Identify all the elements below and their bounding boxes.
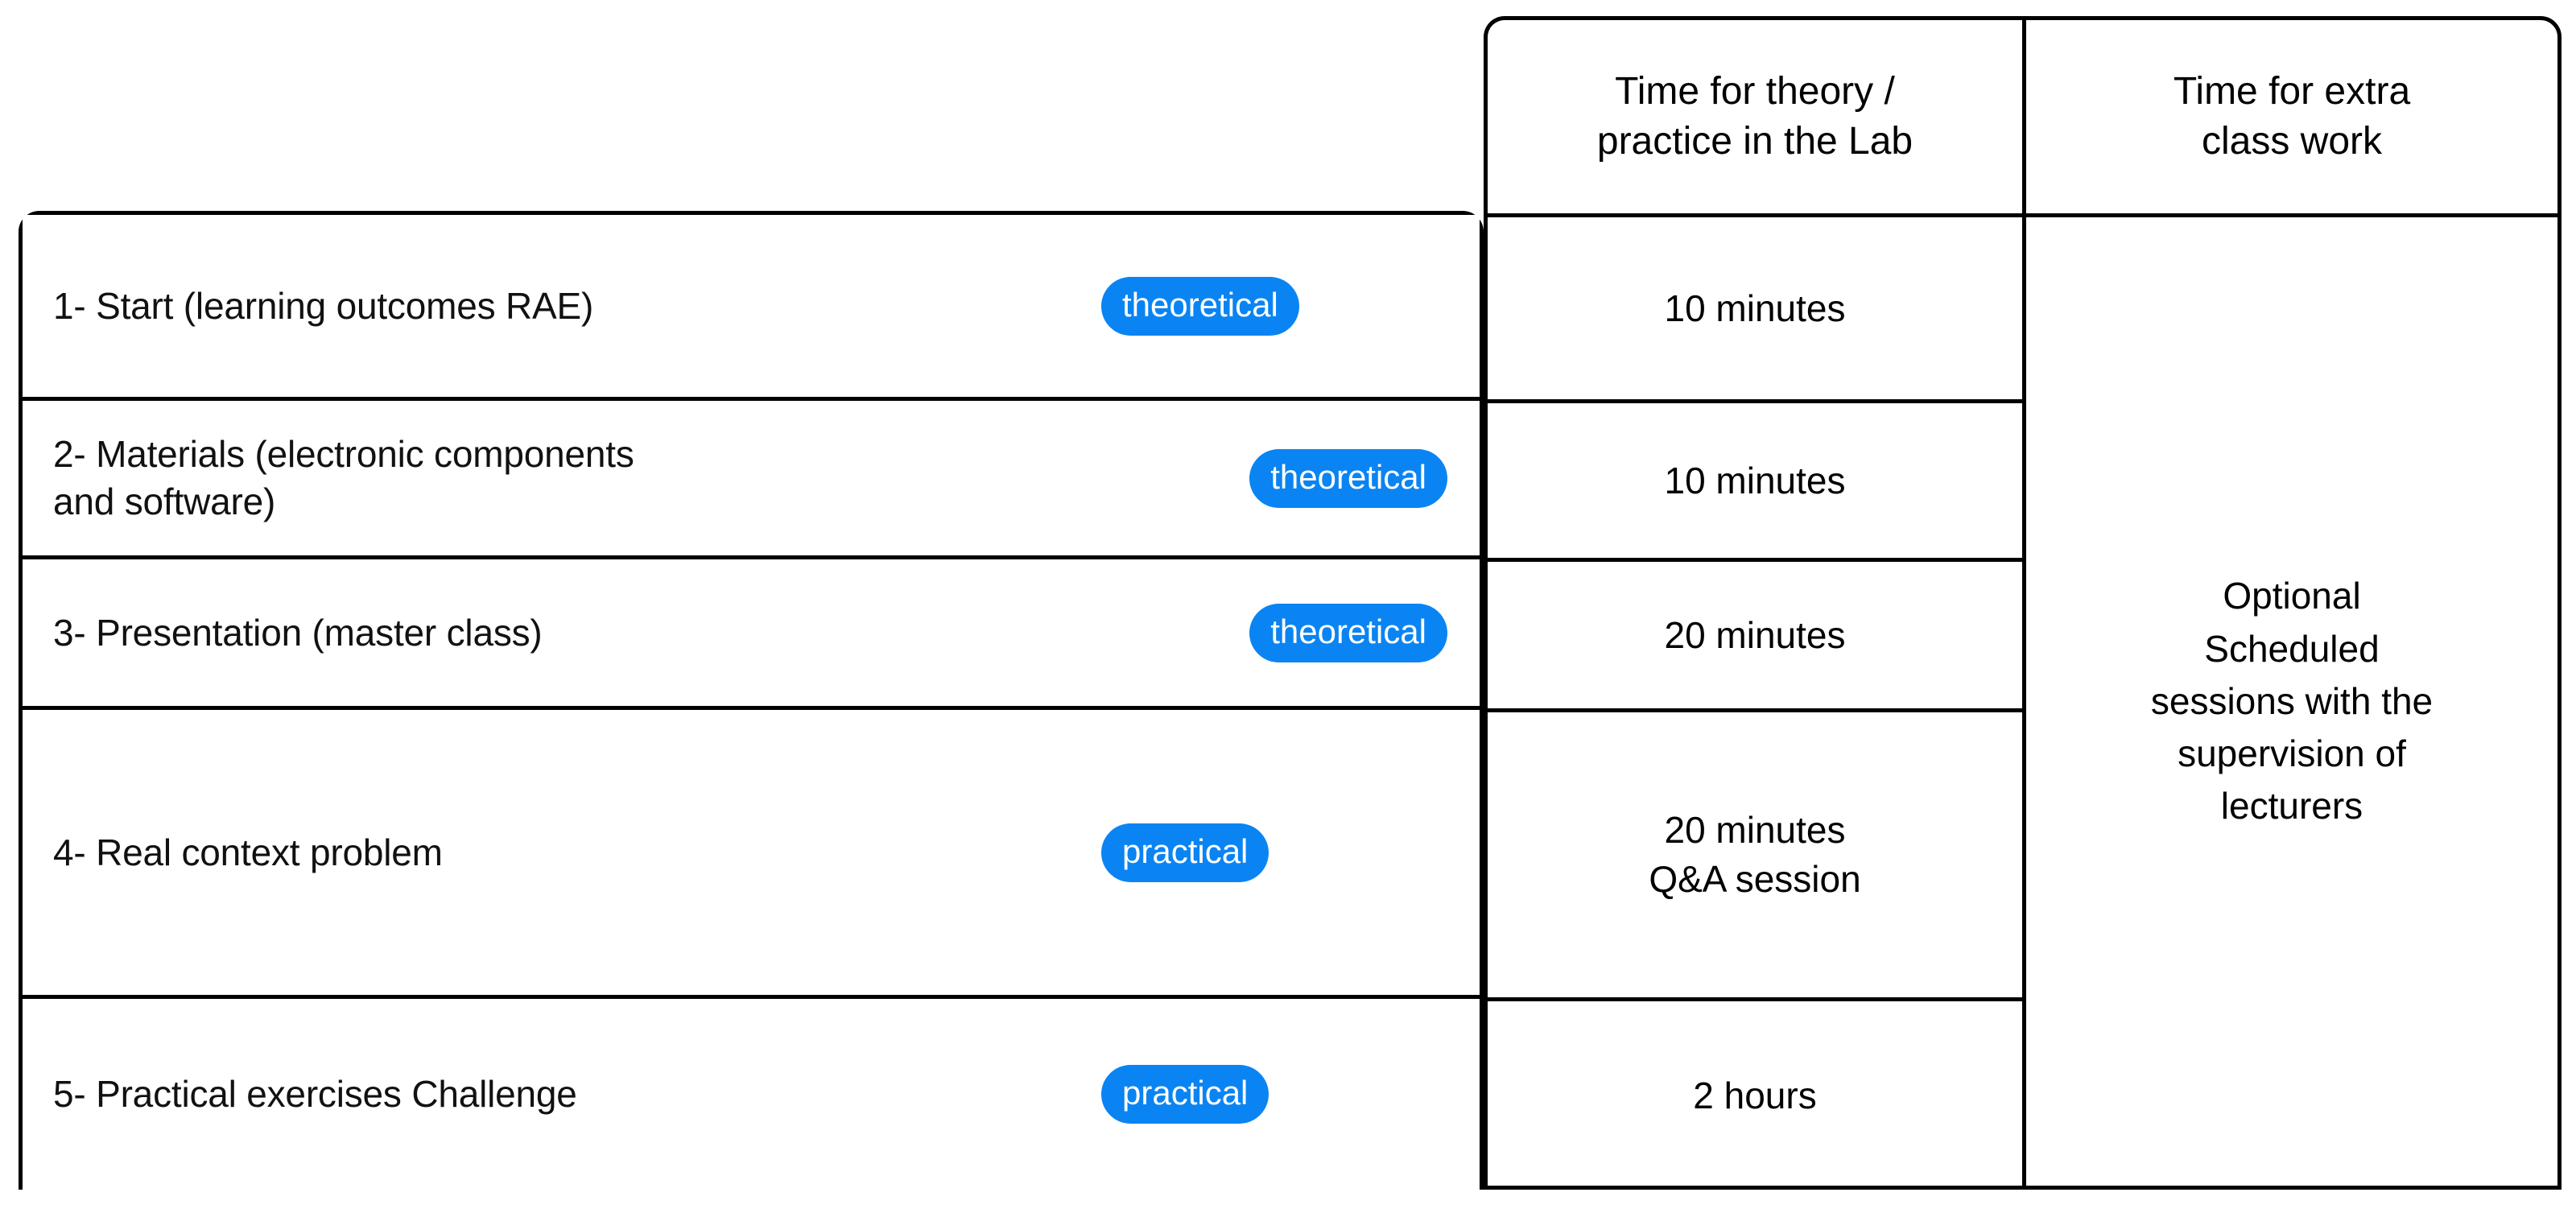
activity-label: 2- Materials (electronic components and …	[53, 431, 1101, 526]
activity-label: 4- Real context problem	[53, 829, 1101, 877]
column-header-lab-time-line-1: Time for theory /	[1597, 67, 1913, 117]
column-header-extra-class-work: Time for extra class work	[2026, 20, 2557, 217]
badge-slot: practical	[1101, 823, 1447, 882]
lab-time-cell: 2 hours	[1488, 1001, 2022, 1190]
extra-class-work-line-2: Scheduled	[2151, 623, 2433, 675]
extra-class-work-line-4: supervision of	[2151, 728, 2433, 780]
table-row: 5- Practical exercises Challenge practic…	[23, 999, 1480, 1190]
column-header-extra-class-work-line-2: class work	[2173, 117, 2410, 167]
extra-class-work-line-1: Optional	[2151, 570, 2433, 622]
table-row: 3- Presentation (master class) theoretic…	[23, 559, 1480, 710]
activity-label: 3- Presentation (master class)	[53, 609, 1101, 657]
lab-time-cell: 10 minutes	[1488, 403, 2022, 562]
badge-slot: theoretical	[1101, 449, 1447, 508]
status-badge-practical: practical	[1101, 1065, 1269, 1124]
lab-time-column: Time for theory / practice in the Lab 10…	[1484, 16, 2022, 1190]
table-row: 4- Real context problem practical	[23, 710, 1480, 999]
status-badge-theoretical: theoretical	[1249, 449, 1447, 508]
extra-class-work-line-3: sessions with the	[2151, 675, 2433, 728]
status-badge-theoretical: theoretical	[1249, 604, 1447, 662]
column-header-lab-time-line-2: practice in the Lab	[1597, 117, 1913, 167]
activity-label: 5- Practical exercises Challenge	[53, 1071, 1101, 1118]
extra-class-work-line-5: lecturers	[2151, 780, 2433, 832]
table-row: 2- Materials (electronic components and …	[23, 401, 1480, 559]
activity-label-line-1: 2- Materials (electronic components	[53, 431, 1088, 478]
badge-slot: practical	[1101, 1065, 1447, 1124]
table-row: 1- Start (learning outcomes RAE) theoret…	[23, 215, 1480, 401]
lab-time-cell-line-1: 20 minutes	[1649, 806, 1860, 855]
status-badge-theoretical: theoretical	[1101, 277, 1299, 336]
status-badge-practical: practical	[1101, 823, 1269, 882]
extra-class-work-cell: Optional Scheduled sessions with the sup…	[2026, 217, 2557, 1186]
column-header-lab-time: Time for theory / practice in the Lab	[1488, 20, 2022, 217]
lab-time-cell: 10 minutes	[1488, 217, 2022, 403]
badge-slot: theoretical	[1101, 277, 1447, 336]
activity-label-line-2: and software)	[53, 478, 1088, 526]
activities-table: 1- Start (learning outcomes RAE) theoret…	[19, 211, 1484, 1190]
lab-time-cell-line-2: Q&A session	[1649, 855, 1860, 904]
extra-class-work-column: Time for extra class work Optional Sched…	[2022, 16, 2562, 1190]
table-figure: 1- Start (learning outcomes RAE) theoret…	[0, 0, 2576, 1213]
badge-slot: theoretical	[1101, 604, 1447, 662]
column-header-extra-class-work-line-1: Time for extra	[2173, 67, 2410, 117]
lab-time-cell: 20 minutes	[1488, 562, 2022, 712]
lab-time-cell: 20 minutes Q&A session	[1488, 712, 2022, 1001]
activity-label: 1- Start (learning outcomes RAE)	[53, 283, 1101, 330]
